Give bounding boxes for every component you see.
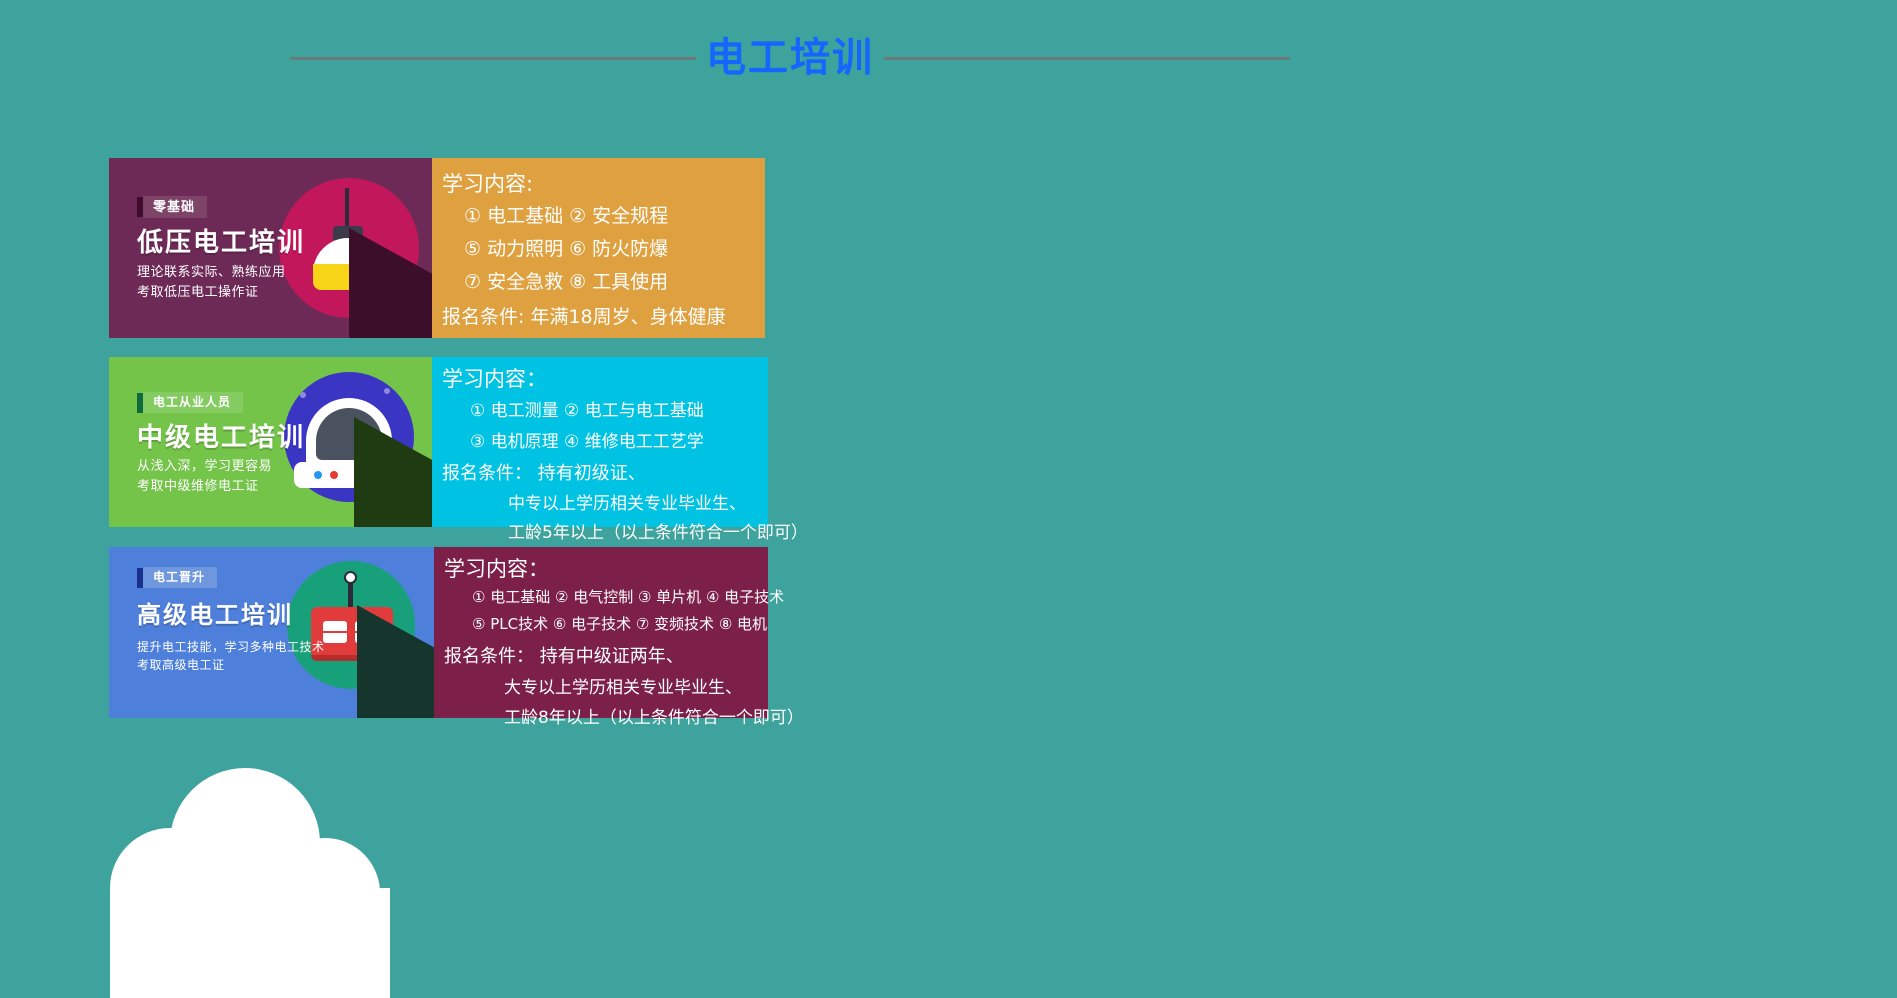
card-content-panel: 学习内容： ① 电工基础 ② 电气控制 ③ 单片机 ④ 电子技术 ⑤ PLC技术…: [434, 547, 768, 718]
content-line: ① 电工基础 ② 电气控制 ③ 单片机 ④ 电子技术: [472, 586, 768, 607]
title-rule-right: [884, 57, 1290, 60]
condition-line: 工龄5年以上（以上条件符合一个即可）: [508, 518, 768, 543]
page-title-row: 电工培训: [290, 28, 1290, 88]
content-line: ⑤ 动力照明 ⑥ 防火防爆: [464, 234, 765, 261]
content-line: ⑤ PLC技术 ⑥ 电子技术 ⑦ 变频技术 ⑧ 电机: [472, 613, 768, 634]
tag-label: 电工从业人员: [143, 392, 243, 413]
course-card-low-voltage[interactable]: 学习内容: ① 电工基础 ② 安全规程 ⑤ 动力照明 ⑥ 防火防爆 ⑦ 安全急救…: [109, 158, 765, 338]
card-subtitle-line2: 考取中级维修电工证: [137, 478, 259, 497]
condition-line: 大专以上学历相关专业毕业生、: [504, 673, 768, 698]
card-subtitle-line2: 考取低压电工操作证: [137, 284, 259, 303]
condition-line: 工龄8年以上（以上条件符合一个即可）: [504, 703, 768, 728]
condition-line: 报名条件： 持有中级证两年、: [444, 642, 768, 668]
content-heading: 学习内容：: [442, 369, 768, 390]
condition-line: 中专以上学历相关专业毕业生、: [508, 489, 768, 514]
title-rule-left: [290, 57, 696, 60]
content-line: ⑦ 安全急救 ⑧ 工具使用: [464, 267, 765, 294]
card-tag: 零基础: [137, 196, 207, 218]
content-line: ③ 电机原理 ④ 维修电工工艺学: [470, 427, 768, 452]
card-subtitle-line2: 考取高级电工证: [137, 657, 225, 674]
content-heading: 学习内容:: [442, 174, 765, 195]
tag-label: 电工晋升: [143, 567, 217, 588]
card-content-panel: 学习内容： ① 电工测量 ② 电工与电工基础 ③ 电机原理 ④ 维修电工工艺学 …: [432, 357, 768, 527]
content-line: ① 电工测量 ② 电工与电工基础: [470, 396, 768, 421]
condition-line: 报名条件： 持有初级证、: [442, 459, 768, 485]
card-tag: 电工晋升: [137, 567, 217, 588]
card-title: 中级电工培训: [137, 425, 305, 451]
card-subtitle-line1: 提升电工技能，学习多种电工技术: [137, 639, 325, 656]
content-heading: 学习内容：: [444, 559, 768, 580]
content-line: ① 电工基础 ② 安全规程: [464, 201, 765, 228]
card-title: 高级电工培训: [137, 603, 293, 627]
course-card-intermediate[interactable]: 学习内容： ① 电工测量 ② 电工与电工基础 ③ 电机原理 ④ 维修电工工艺学 …: [109, 357, 768, 527]
condition-line: 报名条件: 年满18周岁、身体健康: [442, 302, 765, 329]
cloud-base: [110, 888, 390, 998]
card-title: 低压电工培训: [137, 230, 305, 256]
card-tag: 电工从业人员: [137, 392, 243, 413]
course-card-advanced[interactable]: 学习内容： ① 电工基础 ② 电气控制 ③ 单片机 ④ 电子技术 ⑤ PLC技术…: [109, 547, 768, 718]
page-title: 电工培训: [696, 38, 884, 78]
tag-label: 零基础: [143, 196, 207, 218]
cloud-decoration: [110, 768, 390, 998]
card-subtitle-line1: 理论联系实际、熟练应用: [137, 264, 286, 283]
card-subtitle-line1: 从浅入深，学习更容易: [137, 458, 272, 477]
card-content-panel: 学习内容: ① 电工基础 ② 安全规程 ⑤ 动力照明 ⑥ 防火防爆 ⑦ 安全急救…: [432, 158, 765, 338]
